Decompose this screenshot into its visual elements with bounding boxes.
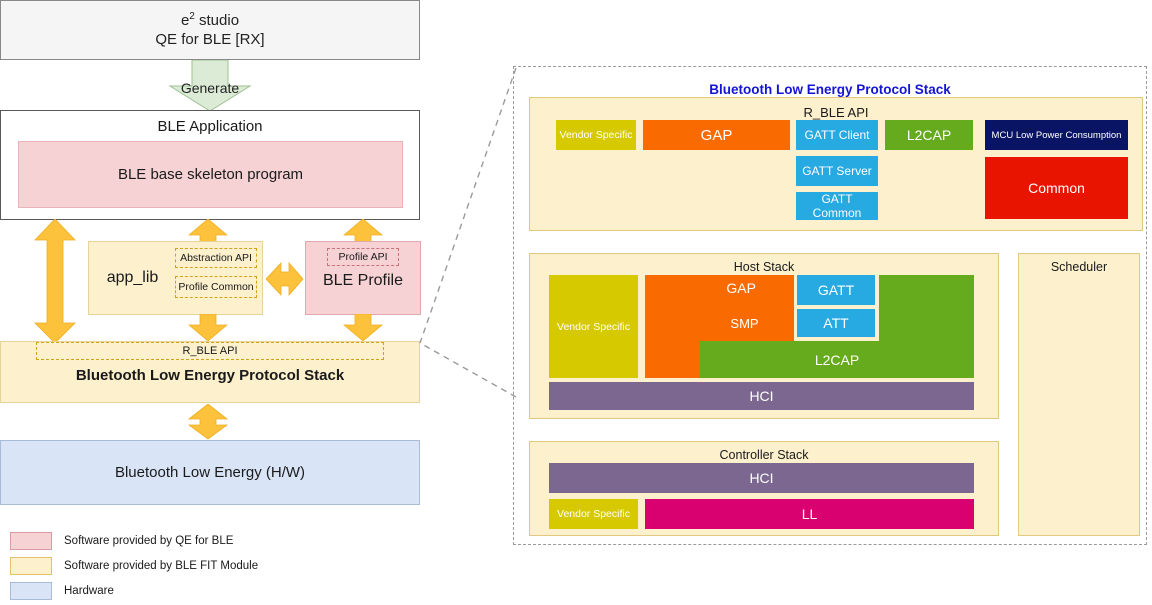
block-smp: SMP (700, 309, 789, 337)
arrow-stack-to-hardware (188, 404, 228, 440)
block-hci-controller: HCI (549, 463, 974, 493)
hardware-box: Bluetooth Low Energy (H/W) (0, 440, 420, 505)
zoom-connector-lines (418, 60, 528, 405)
arrow-app-to-applib (188, 219, 228, 243)
host-stack-group-title: Host Stack (529, 258, 999, 276)
scheduler-group (1018, 253, 1140, 536)
legend-item: Hardware (10, 580, 310, 602)
block-vendor-specific-controller: Vendor Specific (549, 499, 638, 529)
legend: Software provided by QE for BLE Software… (10, 530, 310, 605)
block-l2cap-rble: L2CAP (885, 120, 973, 150)
generate-label: Generate (167, 78, 253, 98)
block-gap-rble: GAP (643, 120, 790, 150)
legend-item: Software provided by BLE FIT Module (10, 555, 310, 577)
profile-common-box: Profile Common (175, 276, 257, 298)
legend-label-fit: Software provided by BLE FIT Module (64, 560, 258, 572)
block-l2cap-host-right (879, 275, 974, 345)
ble-application-title: BLE Application (0, 116, 420, 136)
tool-line-1: e2 studio (181, 11, 239, 31)
legend-swatch-hardware (10, 582, 52, 600)
arrow-profile-to-stack (343, 314, 383, 342)
profile-api-box: Profile API (327, 248, 399, 266)
tool-line-2: QE for BLE [RX] (155, 31, 264, 50)
block-ll: LL (645, 499, 974, 529)
block-gatt-common: GATT Common (796, 192, 878, 220)
block-gatt-host: GATT (797, 275, 875, 305)
controller-stack-group-title: Controller Stack (529, 446, 999, 464)
legend-label-qe: Software provided by QE for BLE (64, 535, 233, 547)
block-mcu-low-power-consumption: MCU Low Power Consumption (985, 120, 1128, 150)
legend-label-hardware: Hardware (64, 585, 114, 597)
scheduler-title: Scheduler (1018, 258, 1140, 276)
legend-swatch-fit (10, 557, 52, 575)
block-l2cap-host: L2CAP (700, 341, 974, 378)
arrow-applib-to-profile (266, 260, 304, 298)
legend-item: Software provided by QE for BLE (10, 530, 310, 552)
arrow-app-to-stack-left (34, 219, 76, 344)
block-hci-host: HCI (549, 382, 974, 410)
arrow-app-to-profile (343, 219, 383, 243)
ble-profile-label: BLE Profile (305, 268, 421, 294)
arrow-applib-to-stack (188, 314, 228, 342)
tool-box: e2 studio QE for BLE [RX] (0, 0, 420, 60)
legend-swatch-qe (10, 532, 52, 550)
r-ble-api-box-left: R_BLE API (36, 342, 384, 360)
block-gatt-server: GATT Server (796, 156, 878, 186)
r-ble-api-group-title: R_BLE API (529, 103, 1143, 121)
abstraction-api-box: Abstraction API (175, 248, 257, 268)
app-lib-label: app_lib (95, 266, 170, 290)
block-att: ATT (797, 309, 875, 337)
block-vendor-specific-rble: Vendor Specific (556, 120, 636, 150)
block-vendor-specific-host: Vendor Specific (549, 275, 638, 378)
block-gatt-client: GATT Client (796, 120, 878, 150)
ble-protocol-stack-label: Bluetooth Low Energy Protocol Stack (0, 364, 420, 386)
ble-skeleton-program-box: BLE base skeleton program (18, 141, 403, 208)
right-panel-title: Bluetooth Low Energy Protocol Stack (513, 79, 1147, 99)
block-common: Common (985, 157, 1128, 219)
tool-studio: studio (195, 12, 239, 29)
